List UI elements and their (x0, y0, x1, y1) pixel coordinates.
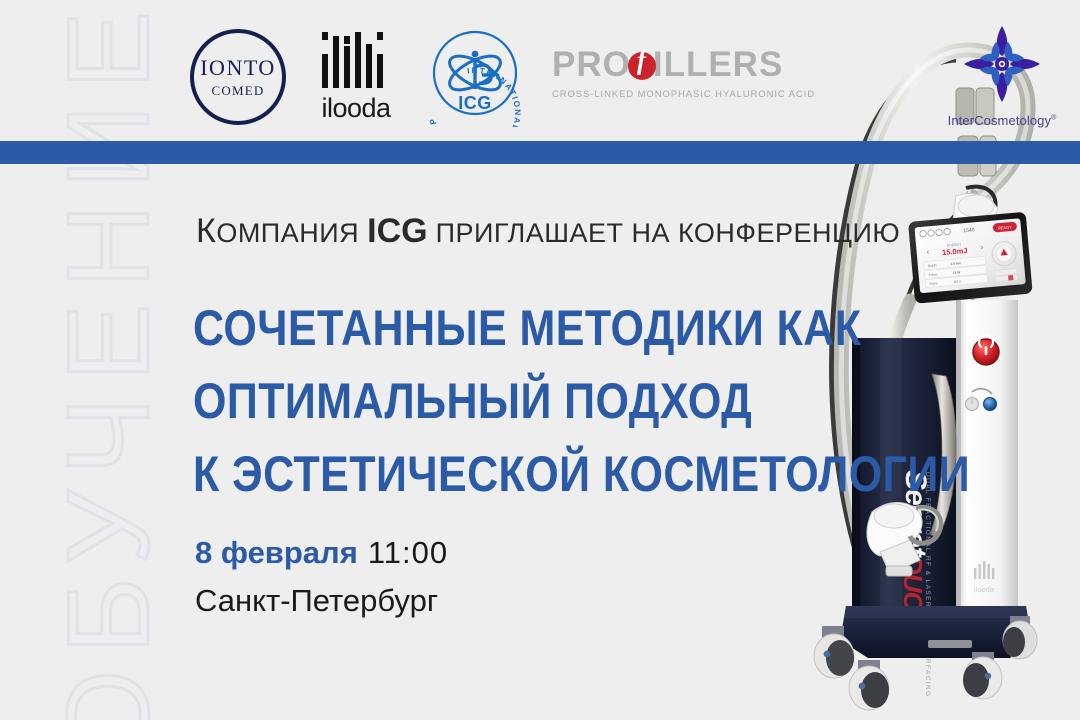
profillers-tagline: CROSS-LINKED MONOPHASIC HYALURONIC ACID (552, 89, 767, 100)
profillers-part2: ILLERS (653, 45, 783, 84)
event-datetime: 8 февраля11:00 (195, 535, 448, 571)
kicker-part-c: ПРИГЛАШАЕТ НА КОНФЕРЕНЦИЮ (428, 218, 901, 248)
svg-text:Power: Power (929, 272, 939, 277)
partner-logo-row: IONTO COMED ilooda INTERNATIONAL C (0, 0, 1080, 141)
ilooda-logo: ilooda (313, 32, 399, 127)
svg-text:15 W: 15 W (953, 270, 961, 275)
conference-banner: ОБУЧЕНИЕ (0, 0, 1080, 720)
svg-text:ilooda: ilooda (974, 585, 995, 594)
intercosmetology-wordmark: InterCosmetology® (942, 113, 1062, 128)
ionto-comed-line1: IONTO (200, 57, 276, 79)
ionto-comed-line2: COMED (212, 84, 265, 97)
kicker-icg: ICG (367, 212, 427, 250)
svg-text:1540: 1540 (963, 227, 975, 234)
profillers-f-letter: f (628, 47, 656, 74)
intercosmetology-flower-icon (942, 22, 1062, 106)
ilooda-bars-icon (322, 32, 390, 88)
ilooda-wordmark: ilooda (313, 95, 399, 122)
headline-line-1: СОЧЕТАННЫЕ МЕТОДИКИ КАК (193, 292, 970, 365)
profillers-wordmark: PROfILLERS (552, 47, 767, 82)
ionto-comed-logo: IONTO COMED (190, 29, 286, 125)
device-touchscreen: 1540 READY ENERGY 15.0mJ ‹ › Depth1.5 mm… (908, 212, 1033, 304)
event-time: 11:00 (368, 535, 448, 570)
headline-line-3: К ЭСТЕТИЧЕСКОЙ КОСМЕТОЛОГИИ (193, 438, 970, 511)
kicker-part-b: ОМПАНИЯ (216, 218, 367, 248)
svg-text:Depth: Depth (928, 263, 937, 268)
accent-bar (0, 141, 1080, 164)
event-date: 8 февраля (195, 535, 358, 570)
kicker-line: КОМПАНИЯ ICG ПРИГЛАШАЕТ НА КОНФЕРЕНЦИЮ (196, 212, 900, 251)
profillers-logo: PROfILLERS CROSS-LINKED MONOPHASIC HYALU… (552, 47, 767, 103)
profillers-f-mark-icon: f (628, 52, 656, 80)
device-base (840, 606, 1032, 658)
headline-line-2: ОПТИМАЛЬНЫЙ ПОДХОД (193, 365, 970, 438)
svg-text:ICG: ICG (458, 93, 492, 113)
event-city: Санкт-Петербург (195, 583, 438, 619)
intercosmetology-logo: InterCosmetology® (942, 22, 1062, 130)
kicker-part-a: К (196, 212, 216, 250)
icg-logo: INTERNATIONAL COSMETIC GROUP ICG (420, 27, 530, 127)
profillers-part1: PRO (552, 45, 631, 84)
headline-block: СОЧЕТАННЫЕ МЕТОДИКИ КАК ОПТИМАЛЬНЫЙ ПОДХ… (193, 292, 1080, 511)
svg-text:0.2 s: 0.2 s (954, 279, 962, 284)
svg-text:Pulse: Pulse (929, 281, 938, 286)
